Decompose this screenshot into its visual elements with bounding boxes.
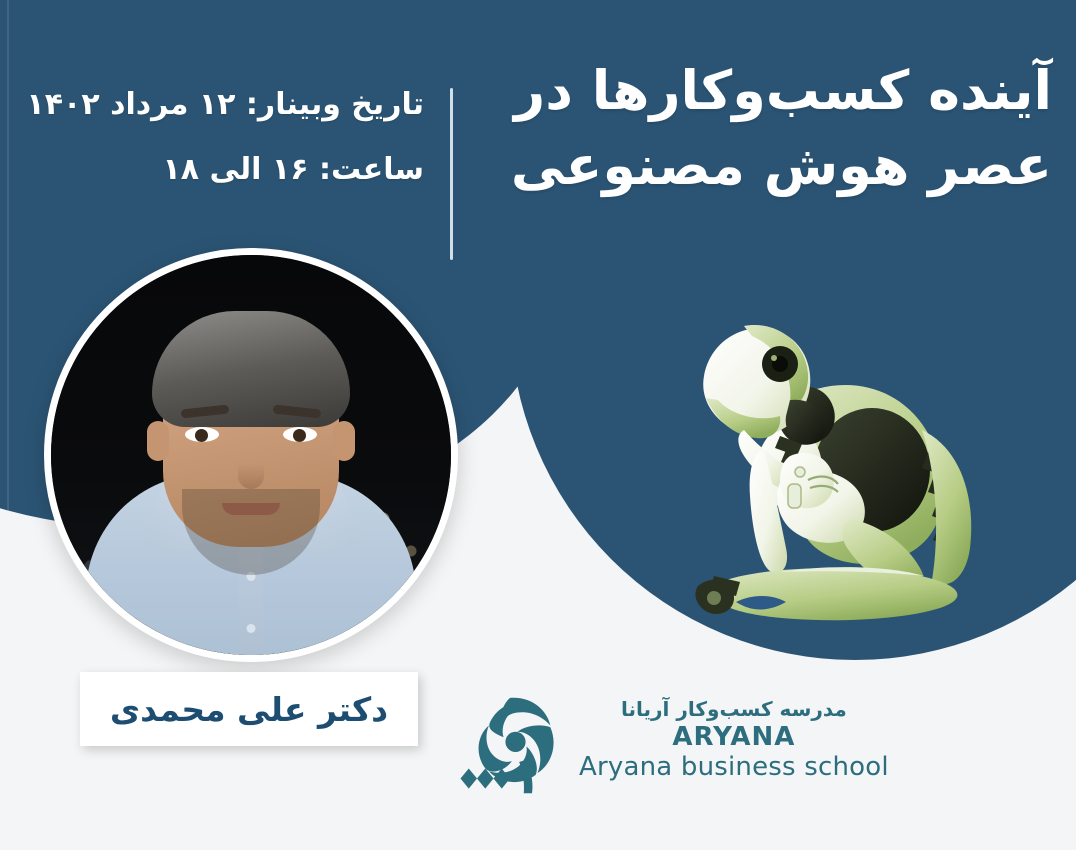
webinar-date: تاریخ وبینار: ۱۲ مرداد ۱۴۰۲ (24, 82, 424, 129)
portrait-ear-left (147, 421, 169, 461)
robot-image (640, 280, 1040, 660)
speaker-name-banner: دکتر علی محمدی (80, 672, 418, 746)
portrait-nose (238, 447, 264, 489)
aryana-spiral-logo-icon (455, 683, 565, 798)
webinar-meta: تاریخ وبینار: ۱۲ مرداد ۱۴۰۲ ساعت: ۱۶ الی… (24, 82, 424, 193)
portrait-eye-left (185, 427, 219, 442)
portrait-eye-right (283, 427, 317, 442)
brand-name-latin: ARYANA (672, 722, 795, 753)
page-title-line-1: آینده کسب‌وکارها در (514, 59, 1052, 122)
portrait-ear-right (333, 421, 355, 461)
page-title: آینده کسب‌وکارها در عصر هوش مصنوعی (452, 54, 1052, 203)
speaker-portrait (44, 248, 458, 662)
page-title-line-2: عصر هوش مصنوعی (452, 129, 1052, 204)
portrait-shirt-button-lower (247, 624, 256, 633)
webinar-poster: آینده کسب‌وکارها در عصر هوش مصنوعی تاریخ… (0, 0, 1076, 850)
webinar-time: ساعت: ۱۶ الی ۱۸ (24, 147, 424, 194)
left-edge-accent-line (7, 0, 9, 520)
brand-logo-text: مدرسه کسب‌وکار آریانا ARYANA Aryana busi… (579, 698, 889, 783)
portrait-mouth (222, 503, 280, 515)
robot-illustration (640, 280, 1040, 660)
speaker-name: دکتر علی محمدی (110, 690, 388, 729)
brand-name-persian: مدرسه کسب‌وکار آریانا (621, 698, 847, 722)
brand-tagline: Aryana business school (579, 752, 889, 783)
brand-logo-lockup: مدرسه کسب‌وکار آریانا ARYANA Aryana busi… (455, 683, 889, 798)
